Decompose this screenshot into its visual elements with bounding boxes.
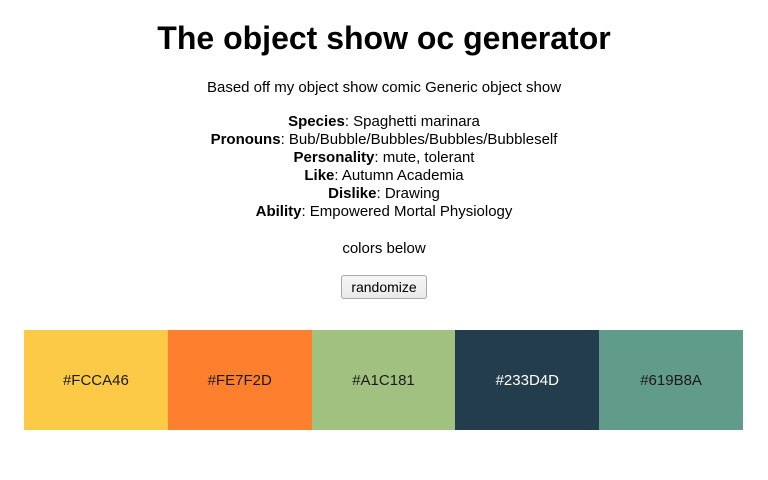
attribute-label: Species xyxy=(288,113,345,130)
attribute-value: Autumn Academia xyxy=(342,167,464,184)
button-row: randomize xyxy=(0,259,768,299)
attribute-row: Ability: Empowered Mortal Physiology xyxy=(0,203,768,221)
attribute-value: Empowered Mortal Physiology xyxy=(310,203,513,220)
attribute-label: Like xyxy=(304,167,334,184)
attribute-label: Ability xyxy=(256,203,302,220)
color-swatch[interactable]: #A1C181 xyxy=(312,330,456,430)
attribute-value: Spaghetti marinara xyxy=(353,113,480,130)
generator-page: The object show oc generator Based off m… xyxy=(0,0,768,480)
attribute-label: Dislike xyxy=(328,185,376,202)
attribute-value: mute, tolerant xyxy=(383,149,475,166)
attribute-separator: : xyxy=(345,113,353,130)
attribute-label: Pronouns xyxy=(211,131,281,148)
attribute-row: Like: Autumn Academia xyxy=(0,167,768,185)
color-swatch[interactable]: #233D4D xyxy=(455,330,599,430)
color-swatch[interactable]: #FE7F2D xyxy=(168,330,312,430)
color-swatch[interactable]: #FCCA46 xyxy=(24,330,168,430)
attribute-separator: : xyxy=(334,167,342,184)
page-subtitle: Based off my object show comic Generic o… xyxy=(0,60,768,98)
attribute-separator: : xyxy=(281,131,289,148)
attribute-separator: : xyxy=(377,185,385,202)
color-swatch[interactable]: #619B8A xyxy=(599,330,743,430)
attribute-separator: : xyxy=(301,203,309,220)
attribute-separator: : xyxy=(374,149,382,166)
attribute-row: Pronouns: Bub/Bubble/Bubbles/Bubbles/Bub… xyxy=(0,131,768,149)
randomize-button[interactable]: randomize xyxy=(341,275,426,299)
attribute-row: Species: Spaghetti marinara xyxy=(0,113,768,131)
attribute-value: Bub/Bubble/Bubbles/Bubbles/Bubbleself xyxy=(289,131,558,148)
attribute-row: Dislike: Drawing xyxy=(0,185,768,203)
attribute-value: Drawing xyxy=(385,185,440,202)
colors-below-note: colors below xyxy=(0,221,768,259)
attribute-label: Personality xyxy=(294,149,375,166)
color-palette: #FCCA46 #FE7F2D #A1C181 #233D4D #619B8A xyxy=(24,330,743,430)
page-title: The object show oc generator xyxy=(0,0,768,60)
attribute-row: Personality: mute, tolerant xyxy=(0,149,768,167)
character-attributes: Species: Spaghetti marinara Pronouns: Bu… xyxy=(0,97,768,221)
